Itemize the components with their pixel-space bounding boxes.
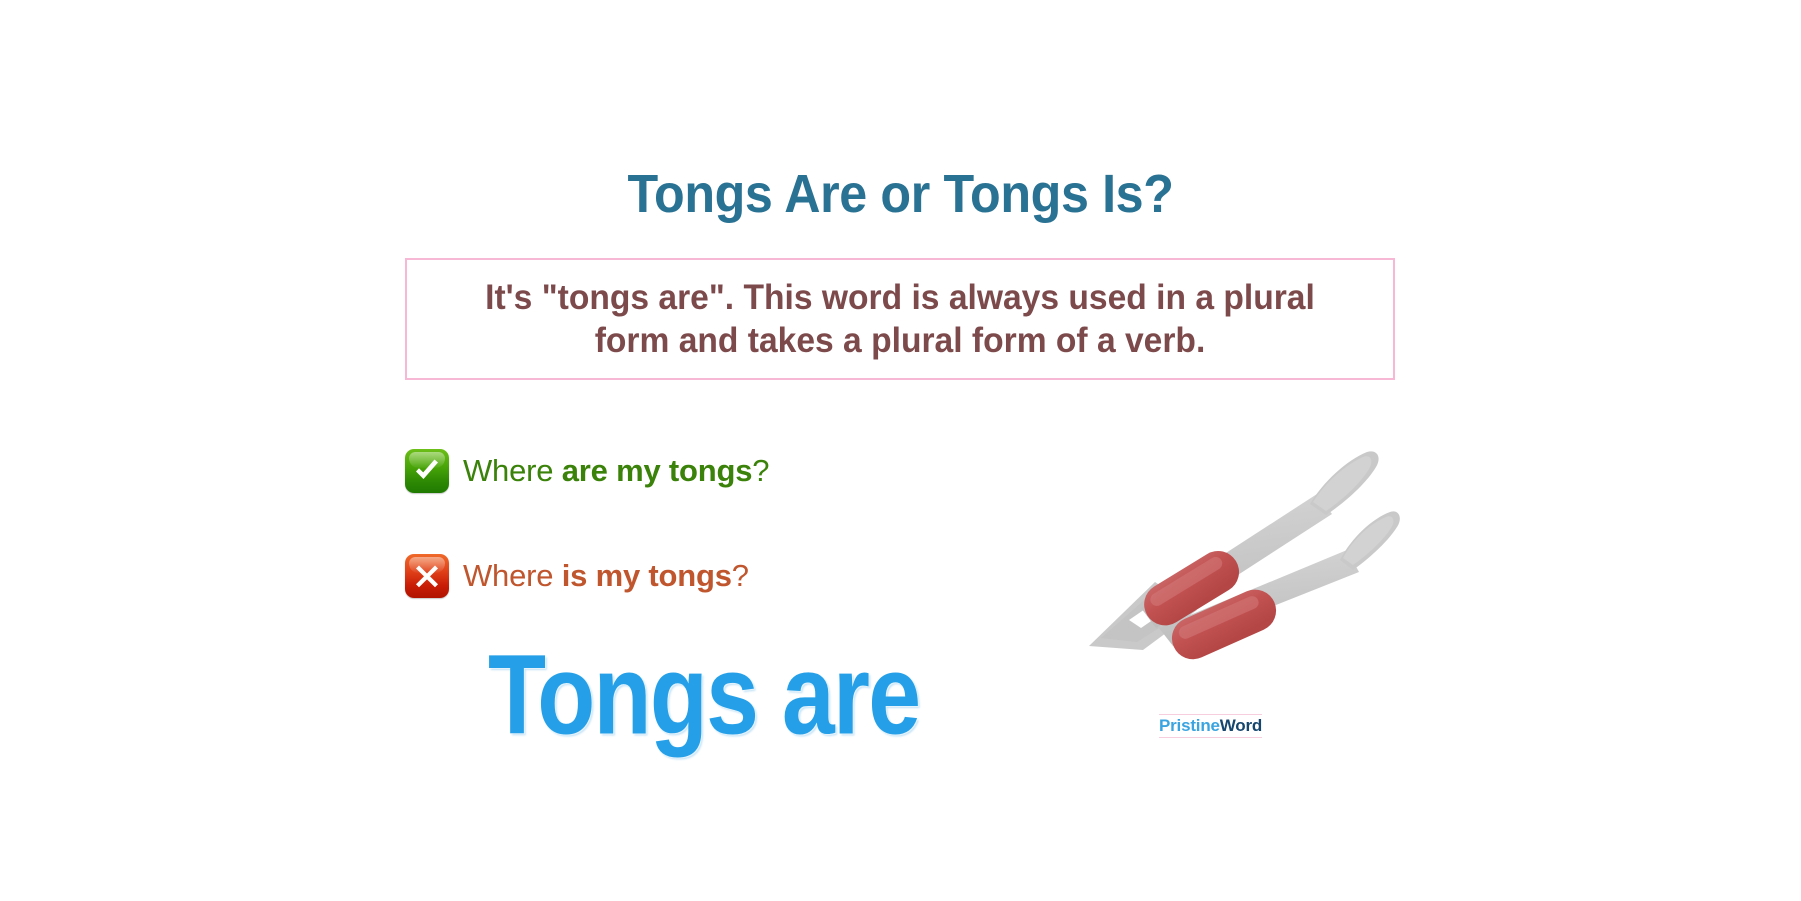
example-emphasis-incorrect: is my tongs bbox=[562, 558, 732, 593]
example-emphasis-correct: are my tongs bbox=[562, 453, 753, 488]
green-check-icon bbox=[405, 449, 449, 493]
page-root: Tongs Are or Tongs Is? It's "tongs are".… bbox=[0, 0, 1801, 901]
example-prefix-correct: Where bbox=[463, 453, 562, 488]
example-suffix-incorrect: ? bbox=[732, 558, 749, 593]
example-row-incorrect: Where is my tongs? bbox=[405, 548, 1105, 604]
answer-highlight-box: It's "tongs are". This word is always us… bbox=[405, 258, 1395, 380]
answer-text: It's "tongs are". This word is always us… bbox=[427, 276, 1374, 363]
kitchen-tongs-illustration bbox=[1085, 432, 1405, 662]
example-prefix-incorrect: Where bbox=[463, 558, 562, 593]
logo-part-two: Word bbox=[1220, 716, 1262, 735]
red-cross-icon bbox=[405, 554, 449, 598]
page-title: Tongs Are or Tongs Is? bbox=[63, 163, 1738, 225]
example-suffix-correct: ? bbox=[752, 453, 769, 488]
examples-list: Where are my tongs? Where is my tongs? bbox=[405, 443, 1105, 653]
display-word: Tongs are bbox=[488, 638, 919, 751]
example-sentence-incorrect: Where is my tongs? bbox=[463, 558, 749, 594]
site-logo[interactable]: PristineWord bbox=[1159, 714, 1262, 738]
logo-part-one: Pristine bbox=[1159, 716, 1220, 735]
example-row-correct: Where are my tongs? bbox=[405, 443, 1105, 499]
example-sentence-correct: Where are my tongs? bbox=[463, 453, 769, 489]
